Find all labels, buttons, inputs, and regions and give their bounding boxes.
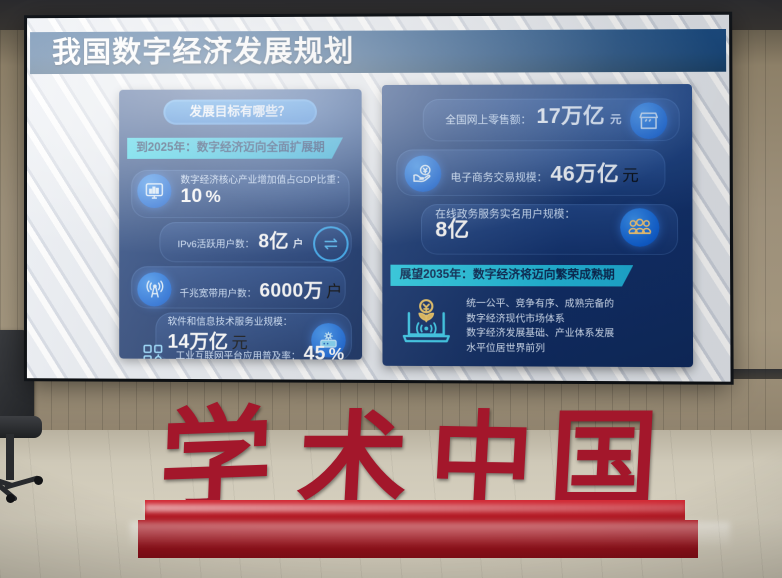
stat-unit-retail: 元 <box>610 111 621 127</box>
modules-gear-icon <box>137 337 167 360</box>
exchange-arrows-icon <box>313 226 349 261</box>
stat-label-ipv6: IPv6活跃用户数： <box>178 239 255 251</box>
stat-label-broadband: 千兆宽带用户数： <box>180 288 257 300</box>
stat-label-software: 软件和信息技术服务业规模： <box>167 317 292 330</box>
stat-unit-ipv6: 户 <box>293 235 303 250</box>
stat-row-broadband: 千兆宽带用户数： 6000万 户 <box>137 272 342 307</box>
stat-unit-ecommerce: 元 <box>622 161 639 185</box>
ribbon-2025: 到2025年：数字经济迈向全面扩展期 <box>127 138 343 159</box>
stat-value-retail: 17万亿 <box>536 107 605 127</box>
stat-label-industrial: 工业互联网平台应用普及率： <box>176 351 301 360</box>
stat-row-ecommerce: 电子商务交易规模： 46万亿 元 <box>405 155 639 192</box>
storefront-icon <box>630 102 667 139</box>
stat-value-ipv6: 8亿 <box>258 232 289 252</box>
stat-value-govusers: 8亿 <box>435 220 575 240</box>
broadband-antenna-icon <box>137 272 171 306</box>
projector-screen: 我国数字经济发展规划 发展目标有哪些？ 到2025年：数字经济迈向全面扩展期 <box>27 15 731 382</box>
stat-label-retail: 全国网上零售额： <box>445 114 531 126</box>
sculpture-plinth-highlight <box>145 504 685 512</box>
sculpture-plinth-sheen <box>130 522 730 548</box>
stat-unit-broadband: 户 <box>326 278 342 302</box>
stat-row-retail: 全国网上零售额： 17万亿 元 <box>445 107 621 128</box>
bar-chart-monitor-icon <box>137 174 171 208</box>
stat-row-govusers: 在线政务服务实名用户规模： 8亿 <box>435 208 575 241</box>
stat-label-ecommerce: 电子商务交易规模： <box>450 172 547 184</box>
stat-unit-industrial: % <box>329 344 345 359</box>
stat-label-gdp: 数字经济核心产业增加值占GDP比重： <box>181 175 346 187</box>
outlook-2035-text: 统一公平、竞争有序、成熟完备的 数字经济现代市场体系 数字经济发展基础、产业体系… <box>466 295 614 356</box>
stat-value-ecommerce: 46万亿 <box>550 164 619 184</box>
goals-pill: 发展目标有哪些？ <box>163 99 317 124</box>
stat-unit-gdp: % <box>205 187 221 207</box>
stat-value-gdp: 10 <box>181 187 203 207</box>
page-title: 我国数字经济发展规划 <box>52 35 354 71</box>
left-panel: 发展目标有哪些？ 到2025年：数字经济迈向全面扩展期 数字经济核心产业增加值占 <box>119 89 362 360</box>
hand-yuan-coin-icon <box>405 156 442 192</box>
laptop-yuan-sprout-wifi-icon <box>397 295 456 348</box>
stat-row-ipv6: IPv6活跃用户数： 8亿 户 <box>178 232 304 252</box>
chair-base <box>0 472 44 498</box>
conference-room-scene: 我国数字经济发展规划 发展目标有哪些？ 到2025年：数字经济迈向全面扩展期 <box>0 0 782 578</box>
slide-title-bar: 我国数字经济发展规划 <box>30 29 726 74</box>
stat-row-industrial: 工业互联网平台应用普及率： 45 % <box>137 337 344 360</box>
goals-pill-label: 发展目标有哪些？ <box>163 99 317 124</box>
ribbon-2035: 展望2035年：数字经济将迈向繁荣成熟期 <box>390 265 633 287</box>
stat-value-industrial: 45 <box>304 344 326 359</box>
users-group-icon <box>620 208 659 247</box>
right-panel: 全国网上零售额： 17万亿 元 <box>382 84 693 367</box>
outlook-2035-block: 统一公平、竞争有序、成熟完备的 数字经济现代市场体系 数字经济发展基础、产业体系… <box>397 295 679 357</box>
stat-value-broadband: 6000万 <box>259 282 323 302</box>
stat-row-gdp: 数字经济核心产业增加值占GDP比重： 10 % <box>137 174 345 208</box>
sculpture-xueshu-zhongguo: 学 术 中 国 <box>150 372 670 552</box>
